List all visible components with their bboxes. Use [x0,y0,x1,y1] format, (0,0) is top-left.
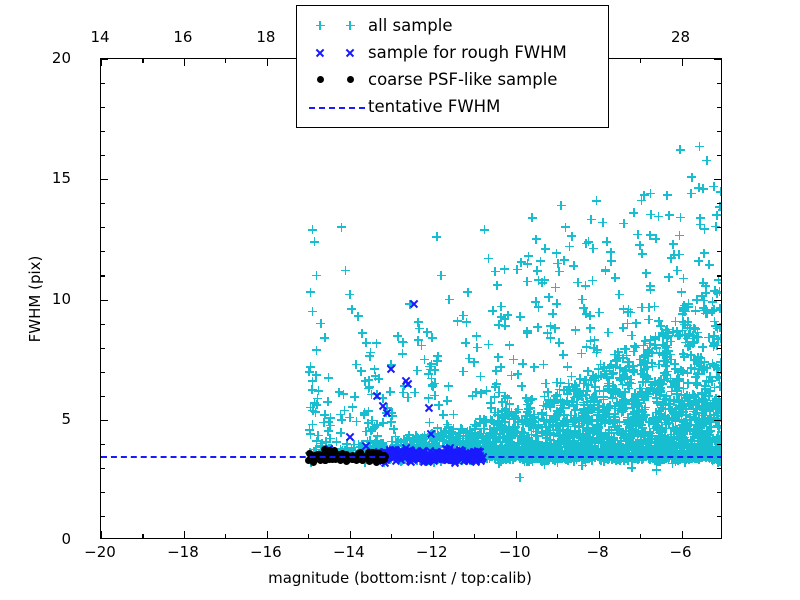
data-point-all-sample [426,431,435,440]
data-point-all-sample [570,386,579,395]
data-point-all-sample [327,445,336,454]
y-tick-left [101,420,108,421]
data-point-all-sample [336,410,345,419]
data-point-all-sample [515,447,524,456]
data-point-all-sample [431,450,440,459]
data-point-all-sample [500,315,509,324]
data-point-all-sample [560,417,569,426]
data-point-all-sample [706,438,715,447]
data-point-all-sample [664,418,673,427]
data-point-all-sample [696,423,705,432]
data-point-all-sample [656,445,665,454]
data-point-all-sample [714,275,722,284]
data-point-all-sample [685,401,694,410]
data-point-all-sample [620,395,629,404]
data-point-rough-fwhm [425,446,434,455]
data-point-all-sample [604,328,613,337]
x-tick-bottom [350,531,351,538]
data-point-all-sample [514,418,523,427]
data-point-all-sample [631,389,640,398]
data-point-all-sample [577,447,586,456]
x-tick-label-bottom: −20 [84,543,116,561]
data-point-all-sample [336,445,345,454]
data-point-all-sample [668,459,677,468]
data-point-all-sample [381,447,390,456]
data-point-all-sample [571,326,580,335]
data-point-coarse-psf [343,458,350,465]
data-point-all-sample [535,441,544,450]
data-point-all-sample [551,446,560,455]
data-point-all-sample [566,439,575,448]
data-point-all-sample [508,424,517,433]
data-point-all-sample [473,444,482,453]
data-point-all-sample [690,410,699,419]
data-point-all-sample [502,435,511,444]
data-point-all-sample [509,415,518,424]
data-point-all-sample [607,444,616,453]
data-point-all-sample [492,379,501,388]
data-point-all-sample [503,410,512,419]
data-point-all-sample [697,453,706,462]
data-point-all-sample [640,430,649,439]
data-point-all-sample [667,387,676,396]
data-point-all-sample [706,401,715,410]
data-point-all-sample [422,440,431,449]
data-point-all-sample [565,438,574,447]
data-point-all-sample [584,424,593,433]
data-point-all-sample [716,187,722,196]
y-tick-minor-left [101,516,105,517]
data-point-rough-fwhm [378,401,387,410]
data-point-all-sample [667,415,676,424]
data-point-all-sample [626,375,635,384]
data-point-all-sample [680,320,689,329]
data-point-all-sample [677,402,686,411]
data-point-all-sample [685,392,694,401]
data-point-all-sample [669,442,678,451]
data-point-all-sample [582,423,591,432]
data-point-all-sample [676,443,685,452]
data-point-all-sample [588,438,597,447]
data-point-all-sample [704,333,713,342]
data-point-all-sample [602,366,611,375]
data-point-all-sample [619,372,628,381]
data-point-all-sample [492,430,501,439]
data-point-all-sample [573,430,582,439]
data-point-all-sample [708,359,717,368]
data-point-all-sample [623,446,632,455]
data-point-all-sample [577,450,586,459]
data-point-all-sample [699,278,708,287]
data-point-all-sample [465,426,474,435]
data-point-all-sample [600,443,609,452]
data-point-all-sample [420,450,429,459]
data-point-all-sample [468,391,477,400]
data-point-all-sample [717,427,722,436]
data-point-all-sample [708,399,717,408]
data-point-all-sample [693,328,702,337]
data-point-rough-fwhm [404,447,413,456]
x-tick-bottom [516,531,517,538]
data-point-all-sample [676,330,685,339]
data-point-all-sample [617,406,626,415]
data-point-all-sample [585,442,594,451]
data-point-all-sample [459,444,468,453]
data-point-all-sample [660,356,669,365]
data-point-all-sample [538,278,547,287]
data-point-all-sample [570,429,579,438]
data-point-all-sample [694,443,703,452]
data-point-all-sample [355,446,364,455]
data-point-rough-fwhm [390,445,399,454]
data-point-all-sample [515,440,524,449]
data-point-all-sample [437,457,446,466]
data-point-all-sample [631,426,640,435]
data-point-all-sample [568,397,577,406]
data-point-all-sample [615,444,624,453]
data-point-all-sample [480,415,489,424]
data-point-all-sample [541,423,550,432]
data-point-all-sample [633,414,642,423]
data-point-all-sample [362,338,371,347]
data-point-all-sample [663,374,672,383]
data-point-all-sample [348,403,357,412]
data-point-all-sample [620,374,629,383]
data-point-all-sample [501,407,510,416]
data-point-all-sample [327,447,336,456]
data-point-all-sample [523,408,532,417]
data-point-all-sample [646,210,655,219]
data-point-all-sample [619,371,628,380]
data-point-all-sample [494,453,503,462]
data-point-all-sample [447,433,456,442]
data-point-all-sample [511,443,520,452]
data-point-all-sample [391,432,400,441]
data-point-all-sample [653,422,662,431]
data-point-all-sample [682,410,691,419]
data-point-all-sample [520,446,529,455]
data-point-all-sample [536,445,545,454]
data-point-all-sample [615,402,624,411]
data-point-all-sample [470,358,479,367]
data-point-all-sample [658,425,667,434]
data-point-all-sample [702,364,711,373]
data-point-all-sample [448,440,457,449]
data-point-all-sample [609,389,618,398]
data-point-all-sample [677,391,686,400]
data-point-all-sample [494,320,503,329]
data-point-all-sample [647,359,656,368]
data-point-all-sample [424,370,433,379]
data-point-all-sample [576,434,585,443]
data-point-all-sample [641,403,650,412]
y-tick-right [714,59,721,60]
data-point-all-sample [580,401,589,410]
data-point-all-sample [646,231,655,240]
data-point-all-sample [446,446,455,455]
data-point-all-sample [534,422,543,431]
data-point-all-sample [496,437,505,446]
data-point-all-sample [312,437,321,446]
data-point-all-sample [563,362,572,371]
data-point-all-sample [440,436,449,445]
data-point-all-sample [624,443,633,452]
data-point-all-sample [641,428,650,437]
data-point-all-sample [409,442,418,451]
data-point-all-sample [647,444,656,453]
data-point-all-sample [557,404,566,413]
data-point-all-sample [651,341,660,350]
data-point-all-sample [697,429,706,438]
data-point-all-sample [673,383,682,392]
data-point-all-sample [627,463,636,472]
data-point-all-sample [700,434,709,443]
data-point-all-sample [324,427,333,436]
data-point-all-sample [718,205,722,214]
data-point-all-sample [399,445,408,454]
data-point-all-sample [675,377,684,386]
data-point-all-sample [658,438,667,447]
data-point-all-sample [551,283,560,292]
legend-dash-icon [309,107,365,109]
data-point-all-sample [694,431,703,440]
data-point-all-sample [607,388,616,397]
data-point-all-sample [541,244,550,253]
data-point-all-sample [474,439,483,448]
data-point-all-sample [701,385,710,394]
data-point-all-sample [674,403,683,412]
data-point-all-sample [689,407,698,416]
data-point-all-sample [699,439,708,448]
data-point-all-sample [559,436,568,445]
data-point-all-sample [517,258,526,267]
data-point-all-sample [660,446,669,455]
data-point-all-sample [553,426,562,435]
data-point-all-sample [618,447,627,456]
data-point-all-sample [500,265,509,274]
data-point-all-sample [306,430,315,439]
data-point-all-sample [595,386,604,395]
data-point-all-sample [551,414,560,423]
data-point-all-sample [477,389,486,398]
data-point-all-sample [314,386,323,395]
data-point-all-sample [707,414,716,423]
data-point-all-sample [465,354,474,363]
data-point-all-sample [713,289,722,298]
y-tick-minor-right [717,131,721,132]
data-point-all-sample [482,442,491,451]
data-point-all-sample [490,393,499,402]
data-point-all-sample [532,447,541,456]
data-point-all-sample [600,438,609,447]
data-point-all-sample [539,360,548,369]
data-point-all-sample [525,446,534,455]
data-point-all-sample [656,432,665,441]
data-point-all-sample [632,421,641,430]
data-point-all-sample [605,363,614,372]
data-point-all-sample [419,443,428,452]
data-point-all-sample [679,438,688,447]
data-point-all-sample [569,438,578,447]
y-tick-minor-right [717,155,721,156]
data-point-all-sample [517,433,526,442]
data-point-all-sample [312,400,321,409]
data-point-all-sample [597,429,606,438]
data-point-all-sample [666,376,675,385]
data-point-all-sample [385,445,394,454]
data-point-all-sample [583,436,592,445]
data-point-all-sample [556,395,565,404]
data-point-all-sample [644,303,653,312]
data-point-all-sample [526,437,535,446]
data-point-all-sample [552,299,561,308]
data-point-all-sample [679,407,688,416]
data-point-all-sample [683,321,692,330]
data-point-all-sample [506,430,515,439]
data-point-rough-fwhm [403,447,412,456]
data-point-all-sample [637,196,646,205]
data-point-all-sample [623,443,632,452]
data-point-all-sample [639,436,648,445]
data-point-all-sample [653,380,662,389]
data-point-all-sample [657,446,666,455]
data-point-all-sample [704,426,713,435]
data-point-all-sample [643,437,652,446]
legend-label: all sample [368,16,453,35]
data-point-all-sample [403,441,412,450]
data-point-all-sample [653,425,662,434]
data-point-coarse-psf [309,457,316,464]
data-point-all-sample [474,441,483,450]
data-point-all-sample [624,432,633,441]
data-point-all-sample [375,442,384,451]
data-point-all-sample [632,396,641,405]
data-point-all-sample [701,388,710,397]
data-point-all-sample [320,410,329,419]
data-point-all-sample [581,438,590,447]
data-point-all-sample [443,396,452,405]
data-point-all-sample [621,388,630,397]
data-point-all-sample [495,418,504,427]
data-point-all-sample [654,360,663,369]
data-point-all-sample [611,390,620,399]
data-point-all-sample [484,254,493,263]
data-point-all-sample [654,212,663,221]
y-tick-minor-left [101,372,105,373]
data-point-all-sample [337,223,346,232]
data-point-all-sample [366,348,375,357]
data-point-all-sample [515,444,524,453]
data-point-all-sample [363,437,372,446]
data-point-all-sample [694,257,703,266]
data-point-all-sample [561,223,570,232]
data-point-all-sample [466,435,475,444]
data-point-all-sample [680,425,689,434]
data-point-all-sample [572,413,581,422]
data-point-all-sample [496,447,505,456]
data-point-all-sample [675,331,684,340]
data-point-all-sample [556,439,565,448]
data-point-all-sample [661,418,670,427]
data-point-all-sample [634,439,643,448]
x-tick-minor-bottom [474,534,475,538]
data-point-all-sample [717,417,722,426]
legend-marker-ex-icon [306,43,368,63]
data-point-all-sample [576,446,585,455]
data-point-all-sample [501,321,510,330]
legend-marker-dot-icon [306,70,368,90]
data-point-all-sample [572,385,581,394]
data-point-all-sample [356,442,365,451]
data-point-all-sample [631,443,640,452]
data-point-all-sample [671,443,680,452]
data-point-all-sample [388,411,397,420]
data-point-all-sample [345,413,354,422]
data-point-all-sample [511,422,520,431]
data-point-all-sample [442,426,451,435]
data-point-all-sample [312,346,321,355]
data-point-all-sample [634,398,643,407]
data-point-all-sample [608,370,617,379]
data-point-all-sample [449,424,458,433]
data-point-all-sample [408,444,417,453]
data-point-all-sample [665,438,674,447]
data-point-all-sample [481,416,490,425]
data-point-all-sample [505,412,514,421]
data-point-all-sample [494,408,503,417]
data-point-all-sample [491,267,500,276]
data-point-all-sample [542,433,551,442]
data-point-all-sample [557,201,566,210]
data-point-all-sample [635,407,644,416]
data-point-all-sample [593,417,602,426]
data-point-rough-fwhm [396,445,405,454]
data-point-all-sample [527,441,536,450]
data-point-all-sample [605,443,614,452]
data-point-all-sample [655,428,664,437]
data-point-all-sample [375,445,384,454]
data-point-all-sample [624,444,633,453]
data-point-all-sample [523,400,532,409]
data-point-all-sample [570,457,579,466]
data-point-all-sample [622,403,631,412]
data-point-all-sample [640,365,649,374]
data-point-all-sample [717,457,722,466]
data-point-all-sample [526,403,535,412]
data-point-all-sample [686,436,695,445]
data-point-all-sample [692,295,701,304]
data-point-all-sample [360,445,369,454]
data-point-all-sample [578,434,587,443]
data-point-all-sample [703,442,712,451]
data-point-all-sample [347,446,356,455]
data-point-all-sample [674,396,683,405]
data-point-all-sample [463,434,472,443]
data-point-all-sample [518,415,527,424]
data-point-all-sample [639,445,648,454]
data-point-all-sample [643,345,652,354]
data-point-all-sample [563,453,572,462]
data-point-all-sample [420,438,429,447]
data-point-all-sample [679,303,688,312]
data-point-all-sample [645,427,654,436]
data-point-all-sample [427,439,436,448]
data-point-all-sample [516,447,525,456]
data-point-all-sample [499,447,508,456]
data-point-all-sample [603,443,612,452]
data-point-all-sample [486,438,495,447]
data-point-all-sample [683,394,692,403]
